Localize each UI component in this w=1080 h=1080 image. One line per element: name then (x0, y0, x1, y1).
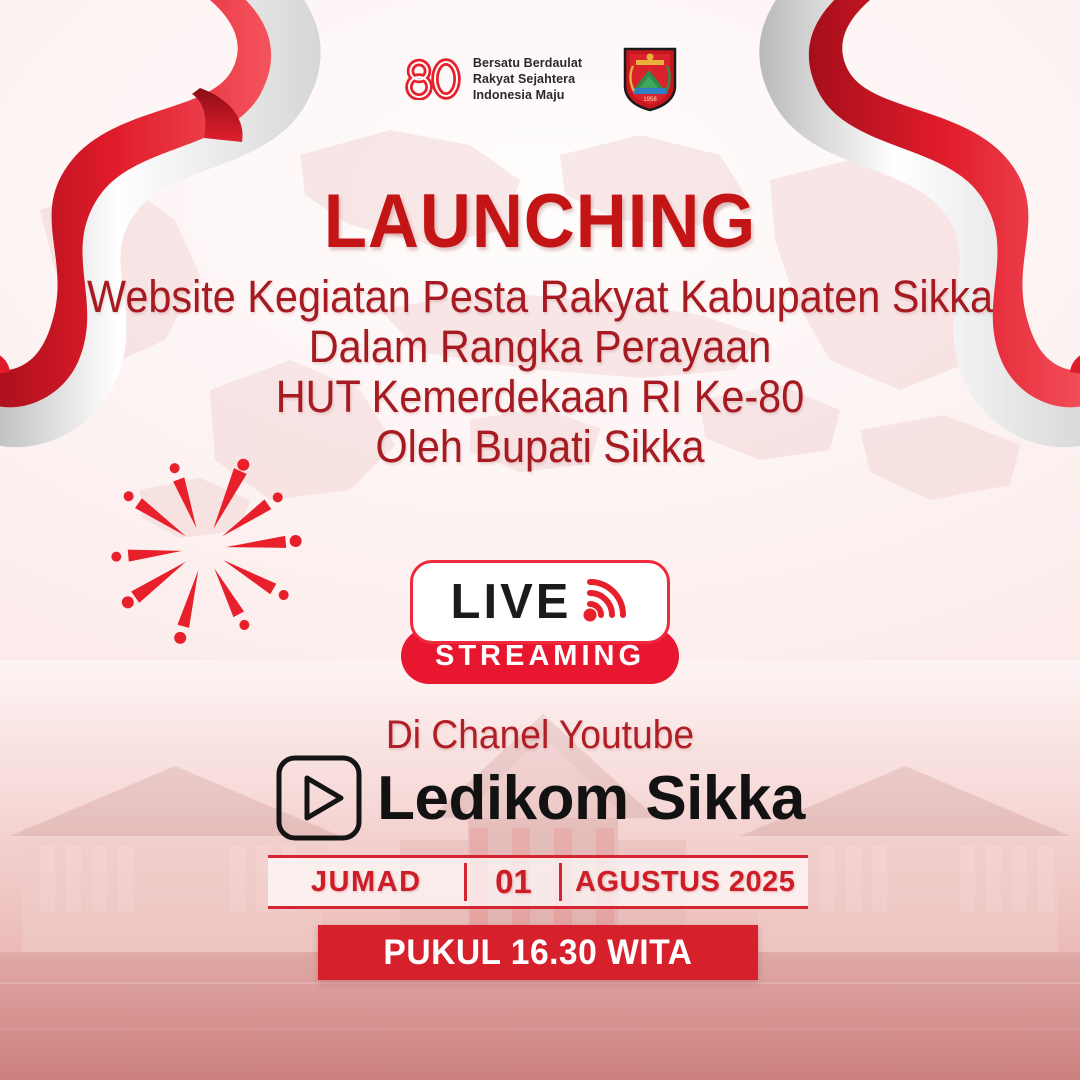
channel-row: Ledikom Sikka (0, 754, 1080, 842)
tagline-line-3: Indonesia Maju (473, 87, 582, 103)
date-bar: JUMAD 01 AGUSTUS 2025 (268, 855, 808, 909)
streaming-label: STREAMING (435, 640, 645, 673)
description-line-3: HUT Kemerdekaan RI Ke-80 (43, 372, 1037, 422)
platform-line: Di Chanel Youtube (38, 713, 1042, 758)
anniversary-tagline: Bersatu Berdaulat Rakyat Sejahtera Indon… (473, 55, 582, 103)
header-logos: Bersatu Berdaulat Rakyat Sejahtera Indon… (0, 46, 1080, 112)
live-label: LIVE (451, 578, 572, 627)
description-block: Website Kegiatan Pesta Rakyat Kabupaten … (43, 272, 1037, 472)
page-title: LAUNCHING (38, 178, 1042, 265)
schedule-date: 01 (467, 863, 559, 901)
live-streaming-badge: LIVE STREAMING (0, 560, 1080, 684)
kabupaten-sikka-emblem-icon: 1958 (622, 46, 678, 112)
broadcast-signal-icon (577, 576, 629, 628)
schedule-time: PUKUL 16.30 WITA (384, 933, 693, 973)
play-button-icon (275, 754, 363, 842)
schedule-month-year: AGUSTUS 2025 (562, 866, 808, 899)
anniversary-80-logo: Bersatu Berdaulat Rakyat Sejahtera Indon… (402, 55, 582, 103)
description-line-2: Dalam Rangka Perayaan (43, 322, 1037, 372)
emblem-year: 1958 (644, 97, 658, 103)
event-poster: Bersatu Berdaulat Rakyat Sejahtera Indon… (0, 0, 1080, 1080)
description-line-4: Oleh Bupati Sikka (43, 422, 1037, 472)
tagline-line-2: Rakyat Sejahtera (473, 71, 582, 87)
time-bar: PUKUL 16.30 WITA (318, 925, 758, 980)
live-box: LIVE (410, 560, 670, 644)
channel-name: Ledikom Sikka (377, 763, 805, 834)
number-80-icon (402, 58, 464, 100)
tagline-line-1: Bersatu Berdaulat (473, 55, 582, 71)
description-line-1: Website Kegiatan Pesta Rakyat Kabupaten … (43, 272, 1037, 322)
schedule-day: JUMAD (268, 866, 464, 899)
